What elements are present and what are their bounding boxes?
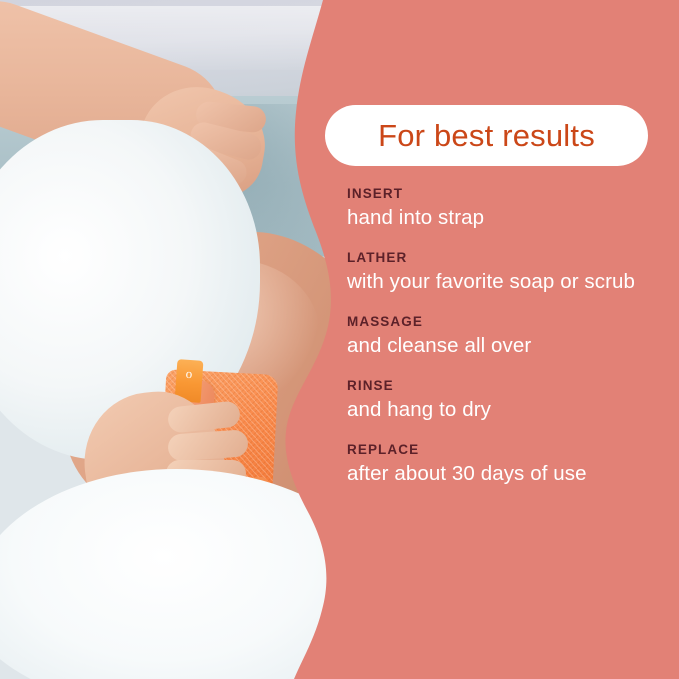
title-pill: For best results — [325, 105, 648, 166]
step-text: and hang to dry — [347, 397, 647, 423]
step-text: with your favorite soap or scrub — [347, 269, 647, 295]
step-massage: MASSAGE and cleanse all over — [347, 314, 667, 359]
step-label: REPLACE — [347, 442, 667, 458]
instructions-panel: For best results INSERT hand into strap … — [347, 0, 667, 679]
step-lather: LATHER with your favorite soap or scrub — [347, 250, 667, 295]
step-label: INSERT — [347, 186, 667, 202]
photo-canvas: o — [0, 0, 360, 679]
step-text: after about 30 days of use — [347, 461, 647, 487]
lower-finger — [167, 429, 249, 462]
steps-list: INSERT hand into strap LATHER with your … — [347, 186, 667, 487]
step-text: and cleanse all over — [347, 333, 647, 359]
step-rinse: RINSE and hang to dry — [347, 378, 667, 423]
bath-photo: o — [0, 0, 360, 679]
step-insert: INSERT hand into strap — [347, 186, 667, 231]
page-title: For best results — [378, 118, 595, 154]
step-replace: REPLACE after about 30 days of use — [347, 442, 667, 487]
product-instructions-infographic: o For best results INSERT hand into stra… — [0, 0, 679, 679]
step-label: LATHER — [347, 250, 667, 266]
step-text: hand into strap — [347, 205, 647, 231]
foam-bottom-mass — [0, 469, 360, 679]
step-label: RINSE — [347, 378, 667, 394]
brand-logo-icon: o — [180, 365, 197, 382]
step-label: MASSAGE — [347, 314, 667, 330]
